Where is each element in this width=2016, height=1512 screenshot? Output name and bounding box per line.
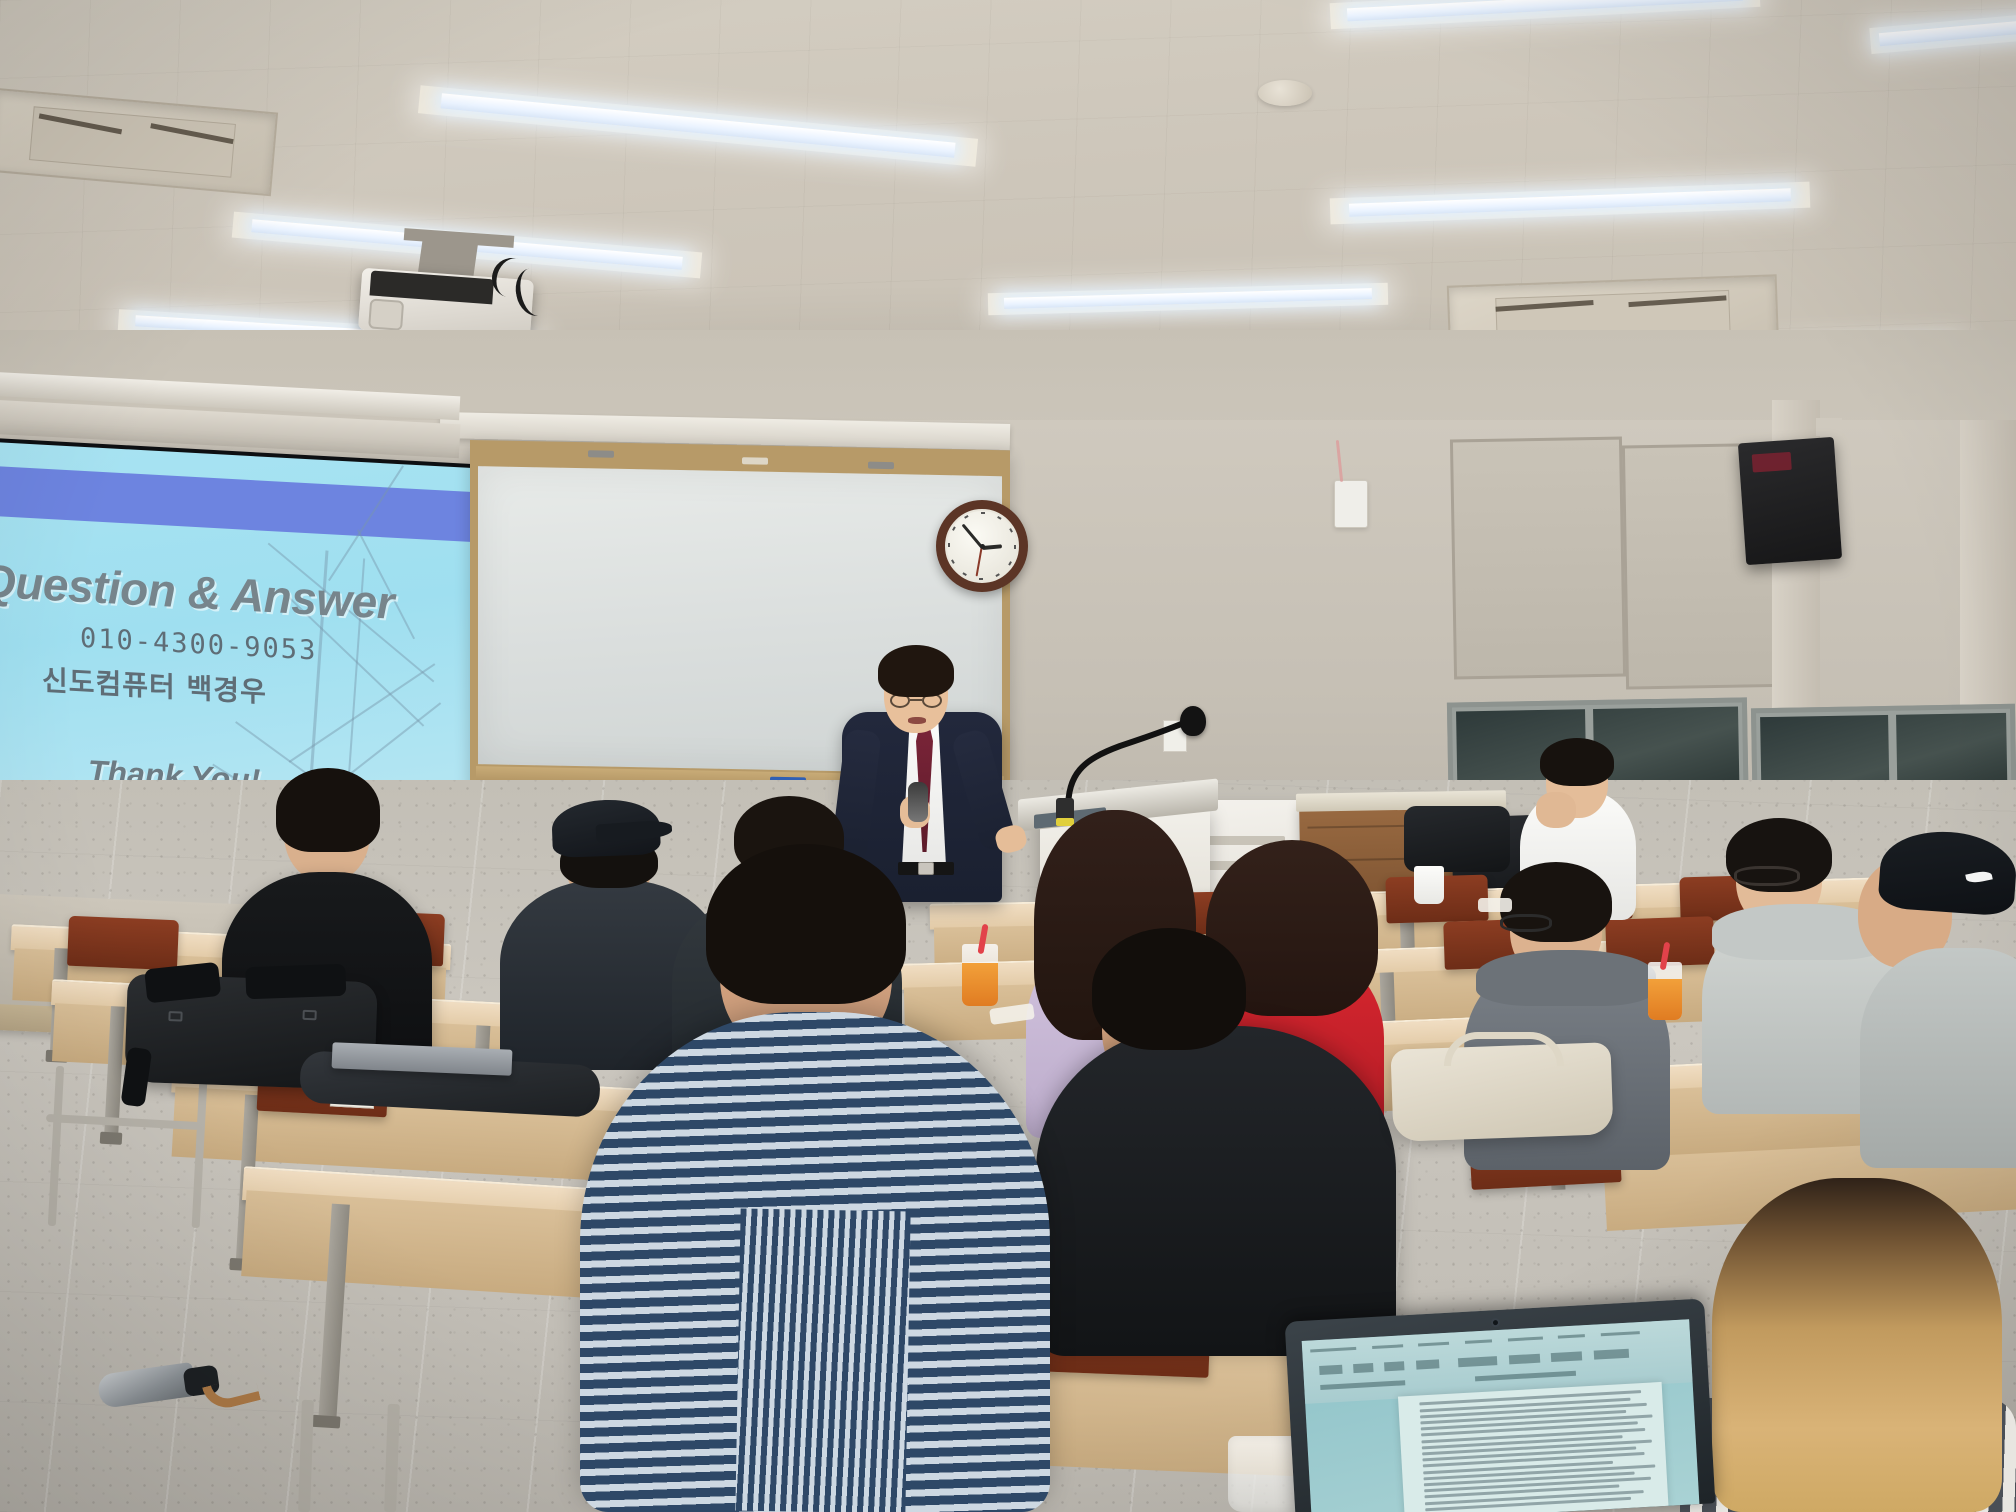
slide-presenter-name: 신도컴퓨터 백경우 bbox=[42, 659, 382, 717]
glasses-grey-hoodie bbox=[1500, 914, 1552, 932]
audience-student-nike-cap bbox=[1860, 948, 2016, 1168]
lecture-hall-photo: Question & Answer 010-4300-9053 신도컴퓨터 백경… bbox=[0, 0, 2016, 1512]
audience-student-dark-front-right bbox=[1036, 1026, 1396, 1356]
presenter-belt-buckle bbox=[918, 862, 934, 875]
whiteboard-magnet-1 bbox=[588, 450, 614, 457]
whiteboard-magnet-3 bbox=[868, 462, 894, 469]
hair-white-shirt-back bbox=[1540, 738, 1614, 786]
pa-speaker bbox=[1738, 437, 1842, 565]
open-laptop[interactable] bbox=[1285, 1298, 1716, 1512]
microphone-capsule bbox=[1180, 706, 1206, 736]
paper-cup-back-right bbox=[1414, 866, 1444, 904]
laptop-screen[interactable] bbox=[1302, 1319, 1700, 1512]
glasses-light-hoodie bbox=[1734, 866, 1800, 886]
clock-hour-hand bbox=[982, 544, 1002, 550]
gooseneck-microphone bbox=[1060, 712, 1200, 812]
slide-accent-bar bbox=[0, 466, 482, 542]
hair-striped-shirt bbox=[706, 844, 906, 1004]
hand-on-chin-white-shirt bbox=[1536, 792, 1576, 828]
iced-drink-cup-right bbox=[1648, 962, 1682, 1020]
handheld-microphone bbox=[908, 782, 928, 822]
clock-pivot bbox=[980, 544, 985, 549]
clock-face bbox=[945, 509, 1019, 583]
pa-speaker-bracket bbox=[1816, 418, 1842, 436]
wall-panel-upper-right bbox=[1450, 437, 1626, 680]
hoodie-hood bbox=[1476, 950, 1656, 1006]
clock-second-hand bbox=[976, 547, 983, 577]
wall-clock bbox=[936, 500, 1028, 592]
document-page[interactable] bbox=[1398, 1382, 1668, 1512]
audience-student-blonde-hair bbox=[1712, 1178, 2002, 1512]
smoke-detector-1 bbox=[1258, 80, 1312, 106]
striped-shirt-center-pleat bbox=[735, 1209, 910, 1512]
whiteboard-magnet-2 bbox=[742, 457, 768, 464]
black-bag-back-right bbox=[1404, 806, 1510, 872]
slide-heading: Question & Answer bbox=[0, 553, 410, 630]
presenter-hair bbox=[878, 645, 954, 697]
chair-left-back-1[interactable] bbox=[67, 916, 179, 971]
napkin-right bbox=[1478, 898, 1512, 912]
wall-sensor bbox=[1334, 480, 1368, 528]
hair-black-tshirt bbox=[276, 768, 380, 852]
tote-bag-handle bbox=[1444, 1032, 1564, 1066]
hair-dark-front-right bbox=[1092, 928, 1246, 1050]
